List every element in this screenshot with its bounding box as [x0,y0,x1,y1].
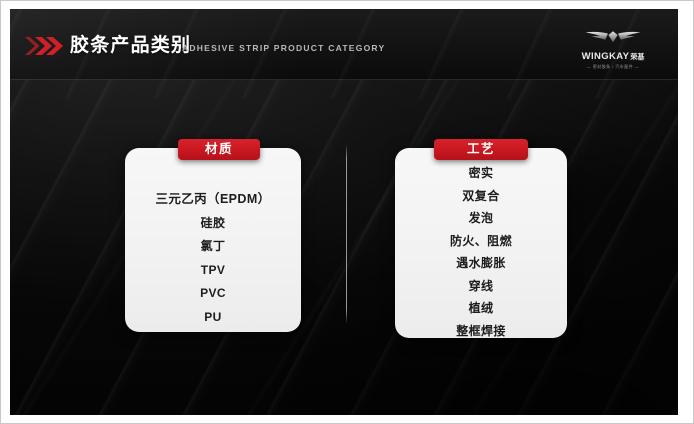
logo-name-cn: 荣基 [630,54,644,61]
page-subtitle: ADHESIVE STRIP PRODUCT CATEGORY [182,43,385,54]
list-item: 硅胶 [125,212,301,236]
page-title: 胶条产品类别 [70,35,191,57]
presentation-slide: 胶条产品类别 ADHESIVE STRIP PRODUCT CATEGORY [10,9,678,415]
list-item: 三元乙丙（EPDM） [125,188,301,212]
list-item: 穿线 [395,275,567,298]
list-item: 发泡 [395,207,567,230]
list-item: 密实 [395,162,567,185]
company-logo: WINGKAY荣基 — 密封胶条 / 汽车配件 — [570,29,656,67]
vertical-divider [346,144,347,324]
list-item: 氯丁 [125,235,301,259]
list-item: TPV [125,259,301,283]
list-item: PU [125,306,301,330]
logo-wordmark: WINGKAY荣基 [570,51,656,63]
list-item: PVC [125,282,301,306]
wings-emblem-icon [570,29,656,50]
list-item: 防火、阻燃 [395,230,567,253]
list-item: 整框焊接 [395,320,567,343]
slide-header-bar: 胶条产品类别 ADHESIVE STRIP PRODUCT CATEGORY [10,9,678,80]
list-item: 遇水膨胀 [395,252,567,275]
material-item-list: 三元乙丙（EPDM） 硅胶 氯丁 TPV PVC PU [125,188,301,329]
logo-name-en: WINGKAY [582,51,630,62]
slide-photo-frame: 胶条产品类别 ADHESIVE STRIP PRODUCT CATEGORY [0,0,694,424]
list-item: 双复合 [395,185,567,208]
process-badge: 工艺 [434,139,528,160]
material-category-card: 三元乙丙（EPDM） 硅胶 氯丁 TPV PVC PU [125,148,301,332]
double-chevron-right-icon [24,35,64,57]
process-category-card: 密实 双复合 发泡 防火、阻燃 遇水膨胀 穿线 植绒 整框焊接 [395,148,567,338]
logo-tagline: — 密封胶条 / 汽车配件 — [572,63,654,70]
material-badge: 材质 [178,139,260,160]
list-item: 植绒 [395,297,567,320]
process-item-list: 密实 双复合 发泡 防火、阻燃 遇水膨胀 穿线 植绒 整框焊接 [395,162,567,342]
